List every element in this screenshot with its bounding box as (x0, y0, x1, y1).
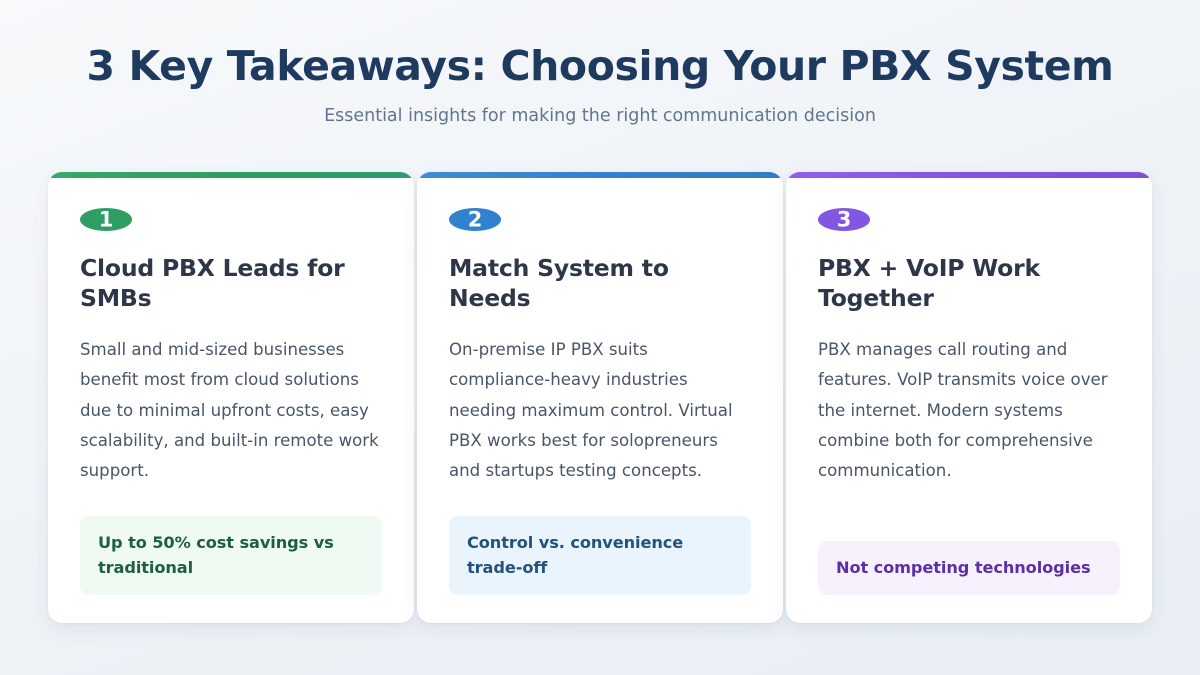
numbered-ellipse-badge-icon: 2 (449, 208, 501, 231)
takeaway-card[interactable]: 1 Cloud PBX Leads for SMBs Small and mid… (48, 172, 414, 623)
card-body-text: PBX manages call routing and features. V… (818, 335, 1120, 486)
numbered-ellipse-badge-icon: 3 (818, 208, 870, 231)
numbered-ellipse-badge-icon: 1 (80, 208, 132, 231)
page-title: 3 Key Takeaways: Choosing Your PBX Syste… (48, 44, 1152, 90)
takeaway-card[interactable]: 2 Match System to Needs On-premise IP PB… (417, 172, 783, 623)
card-title: Cloud PBX Leads for SMBs (80, 253, 382, 313)
infographic-page: 3 Key Takeaways: Choosing Your PBX Syste… (0, 0, 1200, 675)
takeaway-card[interactable]: 3 PBX + VoIP Work Together PBX manages c… (786, 172, 1152, 623)
card-title: Match System to Needs (449, 253, 751, 313)
card-callout-badge: Not competing technologies (818, 541, 1120, 595)
card-body-text: On-premise IP PBX suits compliance-heavy… (449, 335, 751, 486)
card-body-text: Small and mid-sized businesses benefit m… (80, 335, 382, 486)
card-title: PBX + VoIP Work Together (818, 253, 1120, 313)
takeaway-card-list: 1 Cloud PBX Leads for SMBs Small and mid… (48, 172, 1152, 623)
card-callout-badge: Control vs. convenience trade-off (449, 516, 751, 595)
header: 3 Key Takeaways: Choosing Your PBX Syste… (48, 0, 1152, 128)
card-accent-bar (48, 172, 414, 178)
card-accent-bar (786, 172, 1152, 178)
page-subtitle: Essential insights for making the right … (48, 105, 1152, 128)
card-accent-bar (417, 172, 783, 178)
card-callout-badge: Up to 50% cost savings vs traditional (80, 516, 382, 595)
